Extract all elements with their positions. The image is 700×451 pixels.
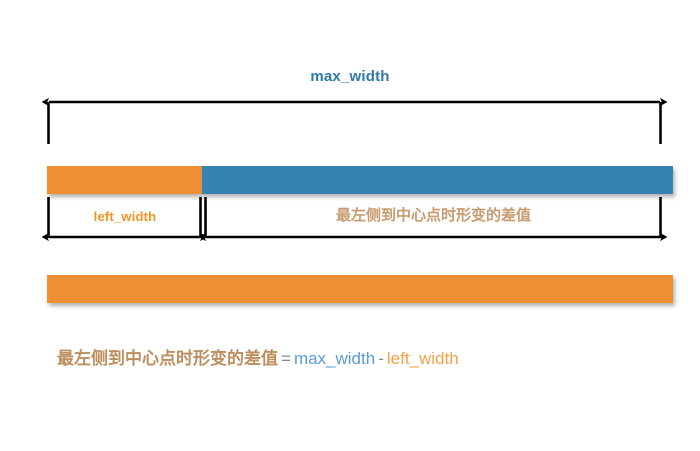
formula-line: 最左侧到中心点时形变的差值=max_width-left_width <box>57 350 459 367</box>
delta-segment-label: 最左侧到中心点时形变的差值 <box>206 208 661 223</box>
top-bar <box>47 166 673 194</box>
top-bar-blue-segment <box>202 166 673 194</box>
left-width-label: left_width <box>48 210 202 223</box>
bottom-bar <box>47 275 673 303</box>
formula-lhs: 最左侧到中心点时形变的差值 <box>57 349 278 368</box>
formula-operand-left-width: left_width <box>387 349 459 368</box>
max-width-dimension <box>49 102 661 144</box>
diagram-canvas: max_width left_width 最左侧到中心点时形变的差值 最左侧到中… <box>0 0 700 451</box>
formula-equals: = <box>281 349 291 368</box>
formula-operand-max-width: max_width <box>294 349 375 368</box>
max-width-label: max_width <box>0 69 700 84</box>
top-bar-orange-segment <box>47 166 202 194</box>
formula-minus: - <box>378 349 384 368</box>
